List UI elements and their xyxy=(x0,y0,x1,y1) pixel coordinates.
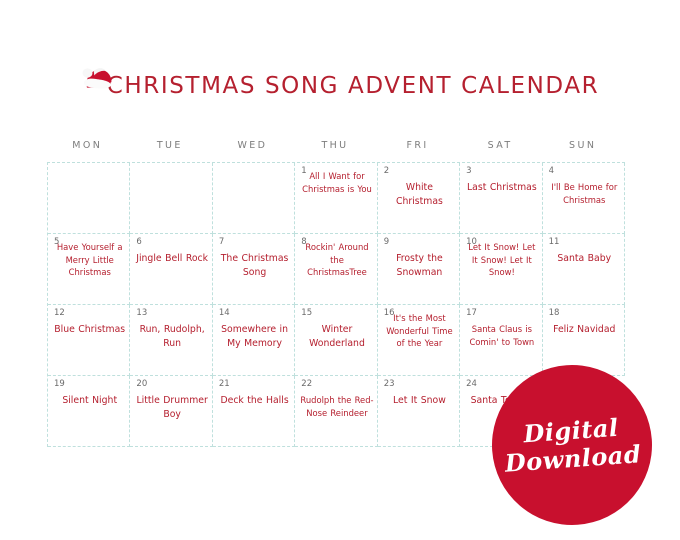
calendar-day-cell[interactable]: 14Somewhere in My Memory xyxy=(213,305,295,376)
day-number: 3 xyxy=(466,167,471,176)
day-number: 19 xyxy=(54,380,65,389)
day-number: 23 xyxy=(384,380,395,389)
weekday-header-row: MON TUE WED THU FRI SAT SUN xyxy=(47,140,625,162)
calendar-day-cell[interactable]: 3Last Christmas xyxy=(460,163,542,234)
calendar-day-cell[interactable]: 20Little Drummer Boy xyxy=(130,376,212,447)
day-number: 21 xyxy=(219,380,230,389)
page-title: CHRISTMAS SONG ADVENT CALENDAR xyxy=(107,73,600,99)
calendar-day-cell[interactable]: 19Silent Night xyxy=(48,376,130,447)
calendar-day-cell[interactable]: 13Run, Rudolph, Run xyxy=(130,305,212,376)
calendar-day-cell[interactable]: 21Deck the Halls xyxy=(213,376,295,447)
calendar-day-cell[interactable]: 8Rockin' Around the ChristmasTree xyxy=(295,234,377,305)
calendar-day-cell[interactable]: 17Santa Claus is Comin' to Town xyxy=(460,305,542,376)
calendar-cell-empty xyxy=(48,163,130,234)
day-number: 24 xyxy=(466,380,477,389)
day-number: 4 xyxy=(549,167,554,176)
song-title: White Christmas xyxy=(383,167,456,210)
calendar-day-cell[interactable]: 5Have Yourself a Merry Little Christmas xyxy=(48,234,130,305)
day-number: 22 xyxy=(301,380,312,389)
day-number: 7 xyxy=(219,238,224,247)
weekday-header-tue: TUE xyxy=(130,140,213,162)
day-number: 18 xyxy=(549,309,560,318)
weekday-header-wed: WED xyxy=(212,140,295,162)
santa-hat-icon xyxy=(81,66,115,96)
day-number: 15 xyxy=(301,309,312,318)
day-number: 5 xyxy=(54,238,59,247)
page-header: CHRISTMAS SONG ADVENT CALENDAR xyxy=(0,62,680,110)
weekday-header-sun: SUN xyxy=(542,140,625,162)
day-number: 12 xyxy=(54,309,65,318)
song-title: Have Yourself a Merry Little Christmas xyxy=(53,238,126,279)
calendar-day-cell[interactable]: 6Jingle Bell Rock xyxy=(130,234,212,305)
calendar-cell-empty xyxy=(213,163,295,234)
day-number: 17 xyxy=(466,309,477,318)
song-title: Frosty the Snowman xyxy=(383,238,456,281)
day-number: 11 xyxy=(549,238,560,247)
calendar-day-cell[interactable]: 1All I Want for Christmas is You xyxy=(295,163,377,234)
song-title: Jingle Bell Rock xyxy=(135,238,208,266)
calendar-day-cell[interactable]: 2White Christmas xyxy=(378,163,460,234)
song-title: The Christmas Song xyxy=(218,238,291,281)
day-number: 16 xyxy=(384,309,395,318)
day-number: 10 xyxy=(466,238,477,247)
calendar-day-cell[interactable]: 10Let It Snow! Let It Snow! Let It Snow! xyxy=(460,234,542,305)
calendar-day-cell[interactable]: 11Santa Baby xyxy=(543,234,625,305)
calendar-day-cell[interactable]: 7The Christmas Song xyxy=(213,234,295,305)
day-number: 6 xyxy=(136,238,141,247)
day-number: 9 xyxy=(384,238,389,247)
weekday-header-mon: MON xyxy=(47,140,130,162)
song-title: All I Want for Christmas is You xyxy=(300,167,373,195)
calendar-day-cell[interactable]: 9Frosty the Snowman xyxy=(378,234,460,305)
calendar-day-cell[interactable]: 23Let It Snow xyxy=(378,376,460,447)
weekday-header-sat: SAT xyxy=(460,140,543,162)
calendar-cell-empty xyxy=(130,163,212,234)
calendar-day-cell[interactable]: 16It's the Most Wonderful Time of the Ye… xyxy=(378,305,460,376)
day-number: 20 xyxy=(136,380,147,389)
calendar-day-cell[interactable]: 12Blue Christmas xyxy=(48,305,130,376)
calendar-day-cell[interactable]: 4I'll Be Home for Christmas xyxy=(543,163,625,234)
song-title: Rockin' Around the ChristmasTree xyxy=(300,238,373,279)
song-title: I'll Be Home for Christmas xyxy=(548,167,621,207)
calendar-day-cell[interactable]: 22Rudolph the Red-Nose Reindeer xyxy=(295,376,377,447)
day-number: 1 xyxy=(301,167,306,176)
weekday-header-thu: THU xyxy=(295,140,378,162)
weekday-header-fri: FRI xyxy=(377,140,460,162)
day-number: 14 xyxy=(219,309,230,318)
song-title: Last Christmas xyxy=(465,167,538,195)
day-number: 2 xyxy=(384,167,389,176)
day-number: 8 xyxy=(301,238,306,247)
day-number: 13 xyxy=(136,309,147,318)
calendar-day-cell[interactable]: 15Winter Wonderland xyxy=(295,305,377,376)
